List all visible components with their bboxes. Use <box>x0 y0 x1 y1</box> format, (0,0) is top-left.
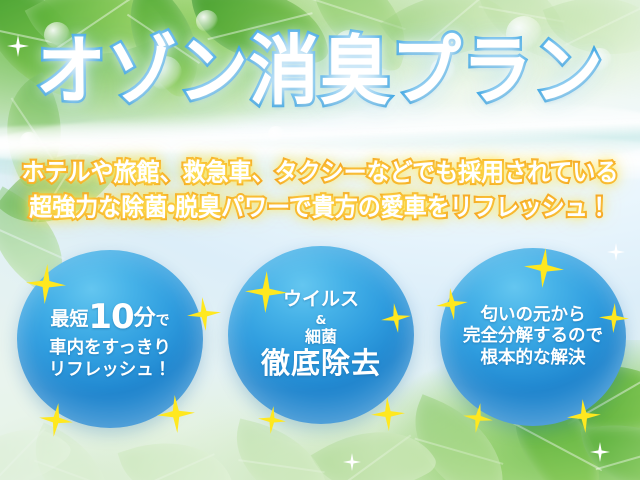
bubble-1-line-2: 車内をすっきり <box>49 338 171 359</box>
bokeh-dot <box>268 126 284 142</box>
bubble-1-line-3: リフレッシュ！ <box>49 360 172 381</box>
bokeh-dot <box>20 132 38 150</box>
feature-bubble-virus: ウイルス & 細菌 徹底除去 <box>228 246 414 424</box>
feature-bubble-speed: 最短10分で 車内をすっきり リフレッシュ！ <box>17 250 203 428</box>
bubble-1-line-1: 最短10分で <box>50 297 169 338</box>
banner-title-container: オゾン消臭プラン <box>0 36 640 106</box>
bubble-1-suffix: で <box>156 313 170 329</box>
bubble-2-line-2: 細菌 <box>305 327 337 347</box>
bubble-1-prefix: 最短 <box>50 308 88 330</box>
ozone-deodorizing-banner: オゾン消臭プラン ホテルや旅館、救急車、タクシーなどでも採用されている 超強力な… <box>0 0 640 480</box>
bubble-1-unit: 分 <box>134 306 156 331</box>
bubble-2-line-3: 徹底除去 <box>261 346 381 381</box>
feature-bubble-odor: 匂いの元から 完全分解するので 根本的な解決 <box>440 248 626 426</box>
subtitle-line-1: ホテルや旅館、救急車、タクシーなどでも採用されている <box>0 157 640 189</box>
page-title: オゾン消臭プラン <box>36 33 604 109</box>
bubble-1-number: 10 <box>88 297 133 337</box>
bubble-2-line-1: ウイルス <box>283 288 359 311</box>
bubble-3-line-3: 根本的な解決 <box>481 348 586 369</box>
bubble-3-line-1: 匂いの元から <box>481 305 586 326</box>
subtitle-line-2: 超強力な除菌・脱臭パワーで貴方の愛車をリフレッシュ！ <box>0 192 640 224</box>
bubble-3-line-2: 完全分解するので <box>463 326 603 347</box>
bubble-2-ampersand: & <box>316 312 327 327</box>
feature-bubbles: 最短10分で 車内をすっきり リフレッシュ！ ウイルス & 細菌 徹底除去 匂い… <box>0 244 640 444</box>
banner-subtitle-container: ホテルや旅館、救急車、タクシーなどでも採用されている 超強力な除菌・脱臭パワーで… <box>0 158 640 223</box>
